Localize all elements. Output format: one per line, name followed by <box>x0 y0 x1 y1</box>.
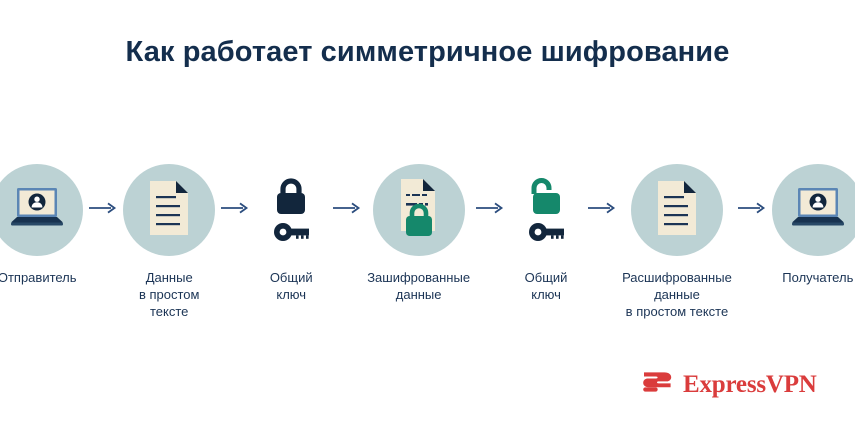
closed-padlock-and-key-icon <box>265 172 317 249</box>
sender-circle <box>0 164 83 256</box>
document-icon <box>654 179 700 242</box>
expressvpn-logo-mark <box>641 368 674 401</box>
flow-step-plaintext-data: Данные в простом тексте <box>123 163 215 320</box>
flow-step-shared-key-decrypt: Общий ключ <box>510 163 582 303</box>
expressvpn-wordmark: ExpressVPN <box>683 371 817 399</box>
receiver-icon-slot <box>772 163 855 257</box>
page-title: Как работает симметричное шифрование <box>0 36 855 69</box>
receiver-circle <box>772 164 855 256</box>
flow-step-label: Общий ключ <box>525 269 568 303</box>
flow-step-label: Получатель <box>782 269 853 286</box>
plaintext-icon-slot <box>123 163 215 257</box>
flow-step-label: Общий ключ <box>270 269 313 303</box>
plaintext-circle <box>123 164 215 256</box>
flow-arrow <box>327 163 367 257</box>
arrow-right-icon <box>738 201 766 220</box>
locked-document-icon <box>393 177 445 244</box>
arrow-right-icon <box>588 201 616 220</box>
laptop-user-icon <box>5 184 69 237</box>
flow-arrow <box>582 163 622 257</box>
flow-step-sender: Отправитель <box>0 163 83 286</box>
flow-step-decrypted-data: Расшифрованные данные в простом тексте <box>622 163 732 320</box>
arrow-right-icon <box>89 201 117 220</box>
flow-step-label: Расшифрованные данные в простом тексте <box>622 269 732 320</box>
sender-icon-slot <box>0 163 83 257</box>
flow-arrow <box>732 163 772 257</box>
open-padlock-and-key-icon <box>520 172 572 249</box>
encrypted-icon-slot <box>373 163 465 257</box>
shared-key-encrypt-icon-slot <box>255 163 327 257</box>
expressvpn-logo: ExpressVPN <box>641 368 817 401</box>
flow-step-receiver: Получатель <box>772 163 855 286</box>
arrow-right-icon <box>221 201 249 220</box>
flow-arrow <box>83 163 123 257</box>
flow-step-label: Зашифрованные данные <box>367 269 470 303</box>
flow-step-encrypted-data: Зашифрованные данные <box>367 163 470 303</box>
flow-step-shared-key-encrypt: Общий ключ <box>255 163 327 303</box>
document-icon <box>146 179 192 242</box>
arrow-right-icon <box>476 201 504 220</box>
decrypted-icon-slot <box>631 163 723 257</box>
arrow-right-icon <box>333 201 361 220</box>
shared-key-decrypt-icon-slot <box>510 163 582 257</box>
flow-step-label: Данные в простом тексте <box>123 269 215 320</box>
flow-arrow <box>470 163 510 257</box>
encryption-flow-diagram: Отправитель <box>0 163 855 320</box>
decrypted-circle <box>631 164 723 256</box>
laptop-user-icon <box>786 184 850 237</box>
encrypted-circle <box>373 164 465 256</box>
flow-arrow <box>215 163 255 257</box>
flow-step-label: Отправитель <box>0 269 77 286</box>
